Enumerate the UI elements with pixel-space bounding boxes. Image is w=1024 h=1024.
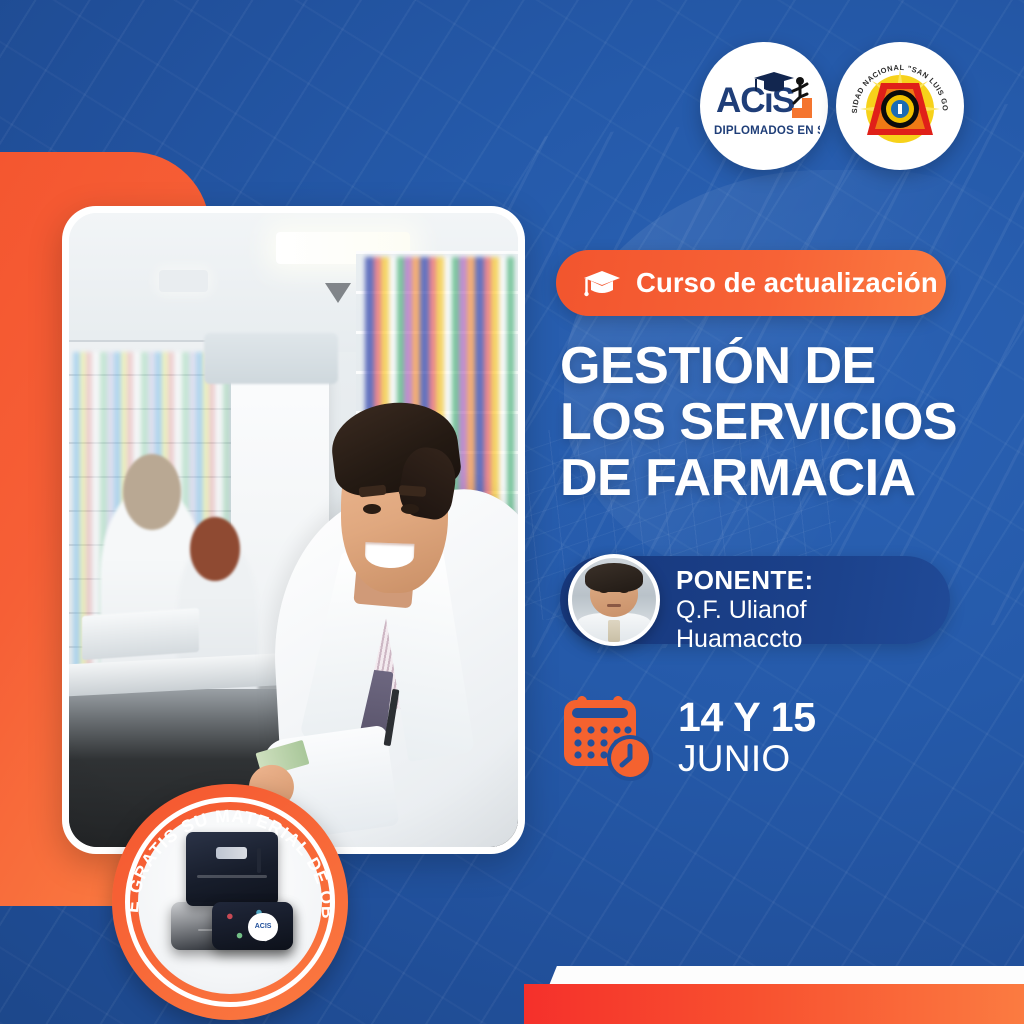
university-seal-mark: UNIVERSIDAD NACIONAL "SAN LUIS GONZAGA"	[841, 47, 959, 165]
photo-cabinet-top	[204, 333, 339, 384]
avatar	[568, 554, 660, 646]
photo-ceiling-cone	[325, 283, 351, 303]
acis-logo-tagline: DIPLOMADOS EN SALUD	[714, 125, 820, 137]
calendar-clock-icon	[560, 690, 656, 786]
course-type-badge: Curso de actualización	[556, 250, 946, 316]
speaker-name-line-1: Q.F. Ulianof	[676, 596, 946, 624]
acis-logo: AC i S DIPLOMADOS EN SALUD	[700, 42, 828, 170]
photo-colleague-two-head	[190, 517, 239, 580]
gift-seal-text: RECLAME GRATIS SU MATERIAL DE OBSEQUIO	[112, 784, 338, 920]
page-title: GESTIÓN DE LOS SERVICIOS DE FARMACIA	[560, 338, 990, 506]
avatar-hair	[585, 563, 642, 592]
avatar-mouth	[607, 604, 620, 607]
course-type-label: Curso de actualización	[636, 267, 938, 299]
date-days: 14 Y 15	[678, 697, 816, 738]
acis-logo-mark: AC i S DIPLOMADOS EN SALUD	[708, 50, 820, 162]
photo-eyebrow-right	[399, 485, 427, 496]
date-block: 14 Y 15 JUNIO	[560, 690, 816, 786]
pharmacist-photo-card	[62, 206, 525, 854]
bottom-red-bar	[524, 984, 1024, 1024]
graduation-cap-icon	[582, 268, 622, 298]
speaker-text-block: PONENTE: Q.F. Ulianof Huamaccto	[676, 566, 946, 653]
pharmacist-photo	[69, 213, 518, 847]
date-month: JUNIO	[678, 738, 816, 779]
gift-seal-curved-text: RECLAME GRATIS SU MATERIAL DE OBSEQUIO	[112, 784, 348, 1020]
gift-seal-badge: ACIS RECLAME GRATIS SU MATERIAL DE OBSEQ…	[112, 784, 348, 1020]
photo-colleague-one-head	[123, 454, 181, 530]
university-logo: UNIVERSIDAD NACIONAL "SAN LUIS GONZAGA"	[836, 42, 964, 170]
date-text-block: 14 Y 15 JUNIO	[678, 697, 816, 779]
speaker-role-label: PONENTE:	[676, 566, 946, 595]
svg-text:RECLAME GRATIS SU MATERIAL DE: RECLAME GRATIS SU MATERIAL DE OBSEQUIO	[112, 784, 338, 920]
speaker-name-line-2: Huamaccto	[676, 625, 946, 653]
photo-keyboard	[82, 608, 199, 661]
svg-text:AC: AC	[716, 81, 765, 120]
promotional-poster: ACIS RECLAME GRATIS SU MATERIAL DE OBSEQ…	[0, 0, 1024, 1024]
avatar-image	[572, 558, 656, 642]
photo-ceiling-lamp-secondary	[159, 270, 208, 292]
avatar-tie	[608, 620, 620, 642]
